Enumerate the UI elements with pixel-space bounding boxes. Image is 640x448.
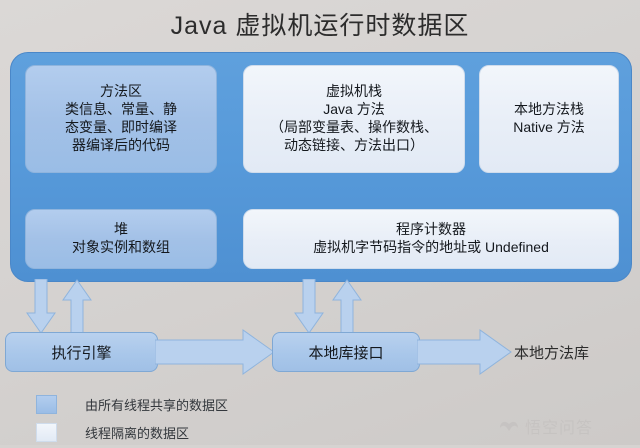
legend-label-isolated: 线程隔离的数据区 (85, 423, 189, 442)
method-area-line-4: 器编译后的代码 (72, 137, 170, 155)
heap-line-1: 堆 (114, 221, 128, 239)
arrow-down-to-execution-engine-icon (26, 279, 56, 334)
legend-label-shared: 由所有线程共享的数据区 (85, 395, 228, 414)
diagram-title: Java 虚拟机运行时数据区 (0, 6, 640, 42)
arrow-up-from-native-interface-icon (332, 279, 362, 334)
runtime-data-area-container: 方法区 类信息、常量、静 态变量、即时编译 器编译后的代码 虚拟机栈 Java … (10, 52, 632, 282)
vm-stack-line-2: Java 方法 (323, 101, 384, 119)
memory-box-method-area: 方法区 类信息、常量、静 态变量、即时编译 器编译后的代码 (25, 65, 217, 173)
memory-box-heap: 堆 对象实例和数组 (25, 209, 217, 269)
diagram-canvas: Java 虚拟机运行时数据区 方法区 类信息、常量、静 态变量、即时编译 器编译… (0, 0, 640, 445)
program-counter-line-1: 程序计数器 (396, 221, 466, 239)
method-area-line-2: 类信息、常量、静 (65, 101, 177, 119)
legend: 由所有线程共享的数据区 线程隔离的数据区 (36, 392, 228, 448)
native-method-stack-line-1: 本地方法栈 (514, 101, 584, 119)
legend-item-shared: 由所有线程共享的数据区 (36, 392, 228, 416)
legend-item-isolated: 线程隔离的数据区 (36, 420, 228, 444)
legend-swatch-shared-icon (36, 395, 57, 414)
vm-stack-line-1: 虚拟机栈 (326, 83, 382, 101)
watermark: 悟空问答 (498, 414, 593, 438)
arrow-native-interface-to-native-method-library-icon (417, 329, 512, 375)
vm-stack-line-3: （局部变量表、操作数栈、 (270, 119, 438, 137)
native-interface-box: 本地库接口 (272, 332, 420, 372)
execution-engine-box: 执行引擎 (5, 332, 158, 372)
arrow-up-from-execution-engine-icon (62, 279, 92, 334)
method-area-line-1: 方法区 (100, 83, 142, 101)
memory-box-vm-stack: 虚拟机栈 Java 方法 （局部变量表、操作数栈、 动态链接、方法出口） (243, 65, 465, 173)
heap-line-2: 对象实例和数组 (72, 239, 170, 257)
memory-box-native-method-stack: 本地方法栈 Native 方法 (479, 65, 619, 173)
legend-swatch-isolated-icon (36, 423, 57, 442)
native-method-library-label: 本地方法库 (514, 342, 589, 363)
arrow-down-to-native-interface-icon (294, 279, 324, 334)
arrow-execution-engine-to-native-interface-icon (155, 329, 275, 375)
native-interface-label: 本地库接口 (308, 342, 383, 363)
method-area-line-3: 态变量、即时编译 (65, 119, 177, 137)
watermark-text: 悟空问答 (525, 414, 593, 438)
program-counter-line-2: 虚拟机字节码指令的地址或 Undefined (313, 239, 549, 257)
vm-stack-line-4: 动态链接、方法出口） (284, 137, 424, 155)
wukong-logo-icon (498, 418, 520, 434)
memory-box-program-counter: 程序计数器 虚拟机字节码指令的地址或 Undefined (243, 209, 619, 269)
execution-engine-label: 执行引擎 (51, 342, 111, 363)
native-method-stack-line-2: Native 方法 (513, 119, 585, 137)
